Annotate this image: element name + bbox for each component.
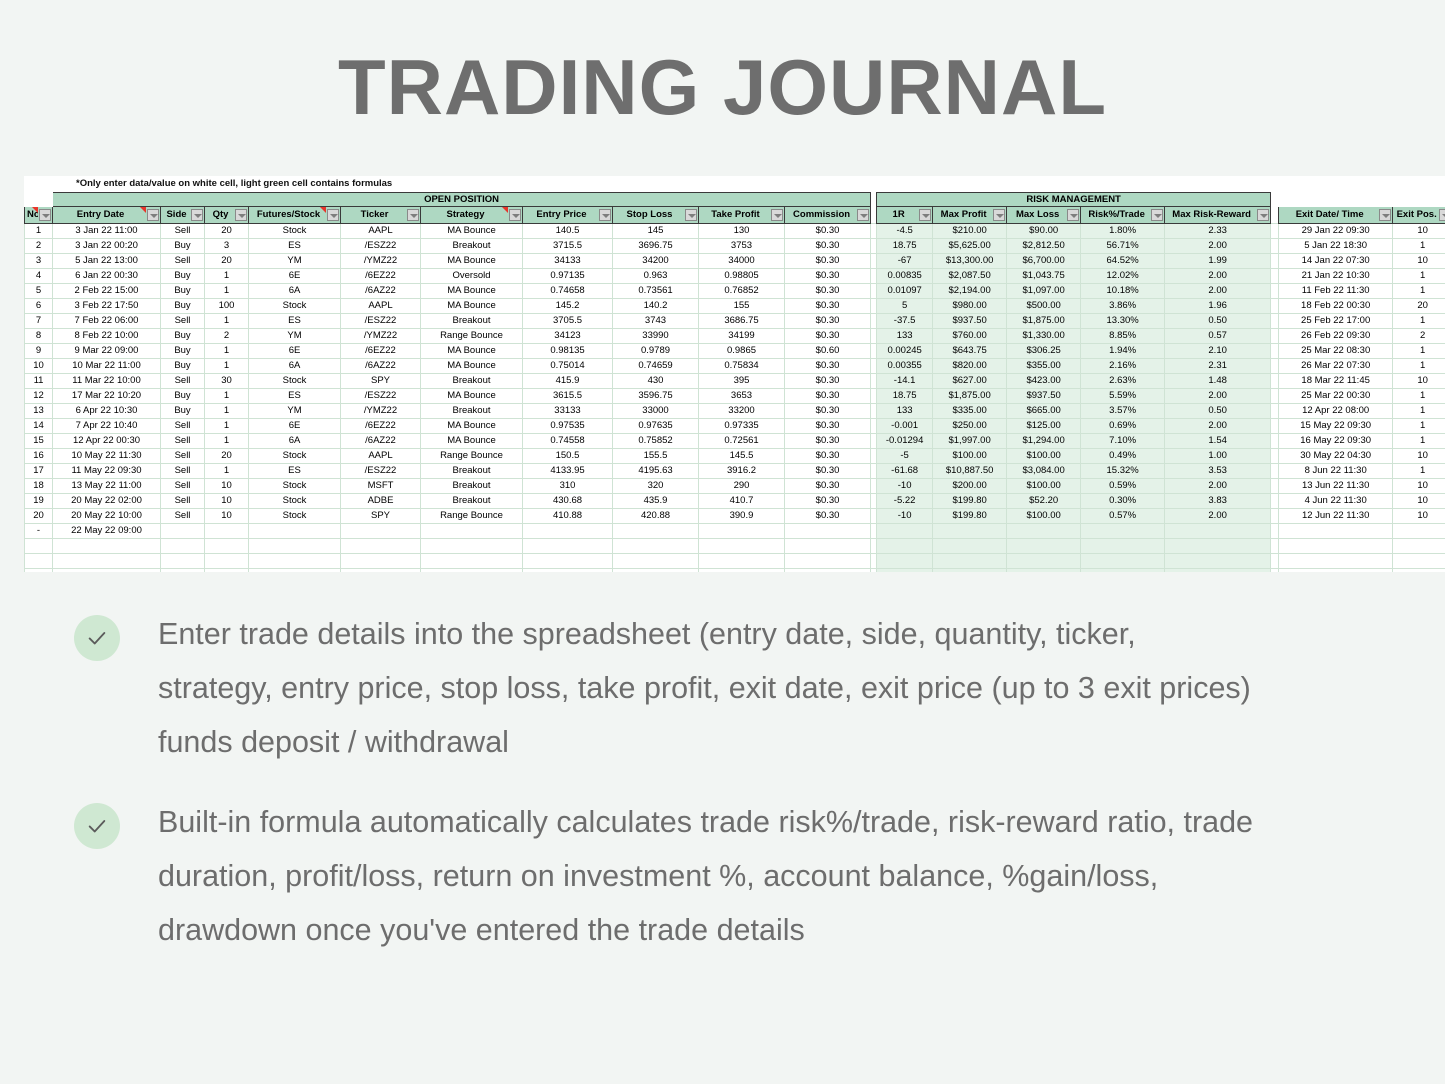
cell-max-rr[interactable]: 1.96	[1165, 299, 1271, 314]
cell-side[interactable]: Sell	[161, 419, 205, 434]
cell-commission[interactable]: $0.30	[785, 464, 871, 479]
cell-max-profit[interactable]: $820.00	[933, 359, 1007, 374]
cell-take-profit[interactable]: 3916.2	[699, 464, 785, 479]
cell-exit-pos[interactable]: 10	[1393, 374, 1445, 389]
cell-instrument[interactable]: Stock	[249, 299, 341, 314]
table-row[interactable]: 1217 Mar 22 10:20Buy1ES/ESZ22MA Bounce36…	[25, 389, 1445, 404]
cell-ticker[interactable]: /6EZ22	[341, 419, 421, 434]
cell-ticker[interactable]: /6AZ22	[341, 284, 421, 299]
cell-max-rr[interactable]: 2.00	[1165, 284, 1271, 299]
cell-r1[interactable]	[877, 539, 933, 554]
cell-no[interactable]: 3	[25, 254, 53, 269]
cell-no[interactable]: 16	[25, 449, 53, 464]
cell-max-rr[interactable]: 1.00	[1165, 449, 1271, 464]
cell-take-profit[interactable]: 34000	[699, 254, 785, 269]
cell-exit-date[interactable]: 12 Jun 22 11:30	[1279, 509, 1393, 524]
cell-max-profit[interactable]: $2,194.00	[933, 284, 1007, 299]
cell-side[interactable]: Sell	[161, 434, 205, 449]
cell-risk-pct[interactable]	[1081, 554, 1165, 569]
cell-qty[interactable]: 2	[205, 329, 249, 344]
column-header-qty[interactable]: Qty	[205, 207, 249, 224]
cell-max-rr[interactable]: 3.53	[1165, 464, 1271, 479]
filter-dropdown-icon[interactable]	[857, 209, 869, 221]
column-header-entry-price[interactable]: Entry Price	[523, 207, 613, 224]
cell-r1[interactable]: 18.75	[877, 239, 933, 254]
table-row[interactable]: 136 Apr 22 10:30Buy1YM/YMZ22Breakout3313…	[25, 404, 1445, 419]
cell-r1[interactable]: -37.5	[877, 314, 933, 329]
filter-dropdown-icon[interactable]	[993, 209, 1005, 221]
cell-entry-date[interactable]	[53, 539, 161, 554]
cell-risk-pct[interactable]: 13.30%	[1081, 314, 1165, 329]
cell-no[interactable]: 18	[25, 479, 53, 494]
cell-take-profit[interactable]: 395	[699, 374, 785, 389]
table-row[interactable]: 147 Apr 22 10:40Sell16E/6EZ22MA Bounce0.…	[25, 419, 1445, 434]
cell-r1[interactable]: 0.00355	[877, 359, 933, 374]
cell-side[interactable]: Buy	[161, 329, 205, 344]
cell-side[interactable]: Sell	[161, 314, 205, 329]
cell-side[interactable]: Buy	[161, 269, 205, 284]
cell-strategy[interactable]	[421, 569, 523, 572]
cell-ticker[interactable]: /6EZ22	[341, 344, 421, 359]
cell-no[interactable]: 13	[25, 404, 53, 419]
cell-entry-price[interactable]: 140.5	[523, 224, 613, 239]
cell-take-profit[interactable]	[699, 554, 785, 569]
cell-risk-pct[interactable]: 0.69%	[1081, 419, 1165, 434]
cell-r1[interactable]: 0.00245	[877, 344, 933, 359]
cell-exit-pos[interactable]: 1	[1393, 464, 1445, 479]
cell-max-loss[interactable]: $423.00	[1007, 374, 1081, 389]
cell-max-profit[interactable]: $2,087.50	[933, 269, 1007, 284]
cell-no[interactable]: 5	[25, 284, 53, 299]
cell-side[interactable]: Sell	[161, 479, 205, 494]
filter-dropdown-icon[interactable]	[599, 209, 611, 221]
cell-no[interactable]: 9	[25, 344, 53, 359]
cell-strategy[interactable]: Breakout	[421, 494, 523, 509]
cell-instrument[interactable]: YM	[249, 254, 341, 269]
cell-instrument[interactable]: ES	[249, 464, 341, 479]
cell-max-loss[interactable]: $306.25	[1007, 344, 1081, 359]
filter-dropdown-icon[interactable]	[1439, 209, 1445, 221]
cell-ticker[interactable]: ADBE	[341, 494, 421, 509]
cell-max-loss[interactable]: $100.00	[1007, 509, 1081, 524]
cell-ticker[interactable]: /YMZ22	[341, 254, 421, 269]
cell-instrument[interactable]: YM	[249, 329, 341, 344]
cell-max-rr[interactable]: 0.50	[1165, 314, 1271, 329]
cell-max-loss[interactable]: $1,294.00	[1007, 434, 1081, 449]
column-header-risk-trade[interactable]: Risk%/Trade	[1081, 207, 1165, 224]
filter-dropdown-icon[interactable]	[1151, 209, 1163, 221]
cell-stop-loss[interactable]	[613, 554, 699, 569]
cell-max-profit[interactable]	[933, 539, 1007, 554]
cell-risk-pct[interactable]: 3.57%	[1081, 404, 1165, 419]
cell-exit-pos[interactable]: 1	[1393, 344, 1445, 359]
cell-take-profit[interactable]: 130	[699, 224, 785, 239]
cell-stop-loss[interactable]: 320	[613, 479, 699, 494]
cell-exit-pos[interactable]: 20	[1393, 299, 1445, 314]
cell-instrument[interactable]: Stock	[249, 479, 341, 494]
cell-exit-date[interactable]: 4 Jun 22 11:30	[1279, 494, 1393, 509]
cell-entry-price[interactable]: 34133	[523, 254, 613, 269]
table-row[interactable]: 1111 Mar 22 10:00Sell30StockSPYBreakout4…	[25, 374, 1445, 389]
cell-strategy[interactable]: Range Bounce	[421, 449, 523, 464]
table-row[interactable]	[25, 539, 1445, 554]
cell-entry-date[interactable]: 6 Jan 22 00:30	[53, 269, 161, 284]
cell-strategy[interactable]: Breakout	[421, 479, 523, 494]
cell-max-loss[interactable]: $1,097.00	[1007, 284, 1081, 299]
cell-ticker[interactable]: MSFT	[341, 479, 421, 494]
cell-stop-loss[interactable]: 0.9789	[613, 344, 699, 359]
cell-instrument[interactable]: 6E	[249, 419, 341, 434]
cell-instrument[interactable]: 6E	[249, 344, 341, 359]
cell-max-rr[interactable]: 0.57	[1165, 329, 1271, 344]
cell-qty[interactable]: 1	[205, 419, 249, 434]
cell-exit-pos[interactable]: 1	[1393, 434, 1445, 449]
cell-stop-loss[interactable]	[613, 569, 699, 572]
cell-max-rr[interactable]: 0.50	[1165, 404, 1271, 419]
cell-entry-price[interactable]: 430.68	[523, 494, 613, 509]
cell-entry-date[interactable]: 2 Feb 22 15:00	[53, 284, 161, 299]
column-header-no[interactable]: No	[25, 207, 53, 224]
cell-strategy[interactable]: MA Bounce	[421, 344, 523, 359]
cell-max-profit[interactable]: $5,625.00	[933, 239, 1007, 254]
cell-exit-date[interactable]: 21 Jan 22 10:30	[1279, 269, 1393, 284]
cell-entry-price[interactable]: 3715.5	[523, 239, 613, 254]
cell-ticker[interactable]: AAPL	[341, 449, 421, 464]
cell-strategy[interactable]: Breakout	[421, 314, 523, 329]
cell-entry-date[interactable]: 10 Mar 22 11:00	[53, 359, 161, 374]
cell-max-loss[interactable]: $500.00	[1007, 299, 1081, 314]
cell-strategy[interactable]	[421, 554, 523, 569]
cell-no[interactable]: 12	[25, 389, 53, 404]
cell-no[interactable]: 14	[25, 419, 53, 434]
cell-instrument[interactable]: Stock	[249, 494, 341, 509]
cell-no[interactable]: 4	[25, 269, 53, 284]
cell-qty[interactable]: 10	[205, 509, 249, 524]
cell-entry-date[interactable]: 11 Mar 22 10:00	[53, 374, 161, 389]
cell-entry-date[interactable]: 6 Apr 22 10:30	[53, 404, 161, 419]
cell-stop-loss[interactable]: 435.9	[613, 494, 699, 509]
cell-commission[interactable]	[785, 554, 871, 569]
cell-commission[interactable]: $0.30	[785, 254, 871, 269]
cell-max-profit[interactable]: $200.00	[933, 479, 1007, 494]
cell-side[interactable]: Sell	[161, 224, 205, 239]
cell-exit-pos[interactable]	[1393, 539, 1445, 554]
cell-qty[interactable]: 1	[205, 389, 249, 404]
cell-commission[interactable]	[785, 524, 871, 539]
table-row[interactable]: 1010 Mar 22 11:00Buy16A/6AZ22MA Bounce0.…	[25, 359, 1445, 374]
cell-max-loss[interactable]	[1007, 569, 1081, 572]
cell-r1[interactable]: 18.75	[877, 389, 933, 404]
cell-instrument[interactable]: Stock	[249, 509, 341, 524]
cell-max-profit[interactable]: $1,875.00	[933, 389, 1007, 404]
cell-stop-loss[interactable]: 420.88	[613, 509, 699, 524]
cell-max-profit[interactable]	[933, 524, 1007, 539]
table-row[interactable]	[25, 554, 1445, 569]
cell-exit-date[interactable]: 29 Jan 22 09:30	[1279, 224, 1393, 239]
cell-instrument[interactable]	[249, 524, 341, 539]
filter-dropdown-icon[interactable]	[147, 209, 159, 221]
cell-ticker[interactable]	[341, 539, 421, 554]
cell-qty[interactable]	[205, 569, 249, 572]
cell-risk-pct[interactable]	[1081, 569, 1165, 572]
cell-r1[interactable]	[877, 554, 933, 569]
cell-strategy[interactable]: MA Bounce	[421, 419, 523, 434]
cell-r1[interactable]: -5	[877, 449, 933, 464]
cell-exit-pos[interactable]: 1	[1393, 359, 1445, 374]
cell-entry-date[interactable]: 8 Feb 22 10:00	[53, 329, 161, 344]
table-row[interactable]: 99 Mar 22 09:00Buy16E/6EZ22MA Bounce0.98…	[25, 344, 1445, 359]
cell-qty[interactable]: 1	[205, 434, 249, 449]
filter-dropdown-icon[interactable]	[509, 209, 521, 221]
cell-risk-pct[interactable]: 5.59%	[1081, 389, 1165, 404]
table-row[interactable]	[25, 569, 1445, 572]
cell-max-profit[interactable]: $335.00	[933, 404, 1007, 419]
cell-max-profit[interactable]: $13,300.00	[933, 254, 1007, 269]
cell-stop-loss[interactable]: 3696.75	[613, 239, 699, 254]
cell-max-loss[interactable]: $125.00	[1007, 419, 1081, 434]
cell-entry-price[interactable]: 33133	[523, 404, 613, 419]
cell-side[interactable]	[161, 569, 205, 572]
cell-instrument[interactable]	[249, 539, 341, 554]
cell-side[interactable]: Buy	[161, 389, 205, 404]
cell-entry-date[interactable]: 10 May 22 11:30	[53, 449, 161, 464]
cell-entry-date[interactable]: 13 May 22 11:00	[53, 479, 161, 494]
cell-entry-price[interactable]: 0.97135	[523, 269, 613, 284]
cell-r1[interactable]: -4.5	[877, 224, 933, 239]
cell-max-profit[interactable]: $10,887.50	[933, 464, 1007, 479]
cell-side[interactable]: Buy	[161, 284, 205, 299]
cell-take-profit[interactable]: 145.5	[699, 449, 785, 464]
cell-take-profit[interactable]: 0.98805	[699, 269, 785, 284]
cell-max-loss[interactable]: $1,330.00	[1007, 329, 1081, 344]
cell-max-rr[interactable]	[1165, 539, 1271, 554]
filter-dropdown-icon[interactable]	[919, 209, 931, 221]
cell-max-loss[interactable]: $1,875.00	[1007, 314, 1081, 329]
cell-entry-price[interactable]: 415.9	[523, 374, 613, 389]
cell-strategy[interactable]	[421, 539, 523, 554]
cell-stop-loss[interactable]: 33000	[613, 404, 699, 419]
cell-risk-pct[interactable]	[1081, 524, 1165, 539]
column-header-strategy[interactable]: Strategy	[421, 207, 523, 224]
cell-stop-loss[interactable]: 0.74659	[613, 359, 699, 374]
column-header-stop-loss[interactable]: Stop Loss	[613, 207, 699, 224]
cell-max-rr[interactable]	[1165, 524, 1271, 539]
cell-max-loss[interactable]: $2,812.50	[1007, 239, 1081, 254]
cell-max-rr[interactable]: 2.00	[1165, 419, 1271, 434]
cell-ticker[interactable]: SPY	[341, 374, 421, 389]
cell-no[interactable]	[25, 539, 53, 554]
cell-no[interactable]: 8	[25, 329, 53, 344]
cell-max-loss[interactable]	[1007, 554, 1081, 569]
cell-side[interactable]: Sell	[161, 254, 205, 269]
cell-risk-pct[interactable]: 1.80%	[1081, 224, 1165, 239]
table-row[interactable]: 23 Jan 22 00:20Buy3ES/ESZ22Breakout3715.…	[25, 239, 1445, 254]
cell-risk-pct[interactable]	[1081, 539, 1165, 554]
filter-dropdown-icon[interactable]	[235, 209, 247, 221]
cell-no[interactable]: 20	[25, 509, 53, 524]
cell-stop-loss[interactable]: 145	[613, 224, 699, 239]
column-header-max-loss[interactable]: Max Loss	[1007, 207, 1081, 224]
table-row[interactable]: 2020 May 22 10:00Sell10StockSPYRange Bou…	[25, 509, 1445, 524]
cell-entry-price[interactable]: 310	[523, 479, 613, 494]
cell-take-profit[interactable]: 3753	[699, 239, 785, 254]
table-row[interactable]: 46 Jan 22 00:30Buy16E/6EZ22Oversold0.971…	[25, 269, 1445, 284]
cell-max-loss[interactable]: $100.00	[1007, 449, 1081, 464]
cell-r1[interactable]: -10	[877, 479, 933, 494]
cell-exit-pos[interactable]: 10	[1393, 509, 1445, 524]
cell-stop-loss[interactable]: 3743	[613, 314, 699, 329]
cell-qty[interactable]: 100	[205, 299, 249, 314]
cell-take-profit[interactable]: 0.76852	[699, 284, 785, 299]
cell-take-profit[interactable]: 410.7	[699, 494, 785, 509]
cell-instrument[interactable]	[249, 569, 341, 572]
cell-entry-price[interactable]: 3615.5	[523, 389, 613, 404]
cell-exit-date[interactable]: 14 Jan 22 07:30	[1279, 254, 1393, 269]
cell-r1[interactable]: -10	[877, 509, 933, 524]
cell-commission[interactable]: $0.30	[785, 374, 871, 389]
cell-strategy[interactable]: Range Bounce	[421, 509, 523, 524]
cell-commission[interactable]: $0.30	[785, 284, 871, 299]
cell-commission[interactable]: $0.30	[785, 269, 871, 284]
cell-commission[interactable]: $0.30	[785, 449, 871, 464]
cell-instrument[interactable]: 6A	[249, 284, 341, 299]
cell-max-profit[interactable]: $250.00	[933, 419, 1007, 434]
column-header-exit-date-time[interactable]: Exit Date/ Time	[1279, 207, 1393, 224]
cell-ticker[interactable]: SPY	[341, 509, 421, 524]
cell-take-profit[interactable]: 390.9	[699, 509, 785, 524]
column-header-entry-date[interactable]: Entry Date	[53, 207, 161, 224]
cell-take-profit[interactable]: 0.72561	[699, 434, 785, 449]
cell-instrument[interactable]: ES	[249, 239, 341, 254]
cell-qty[interactable]: 30	[205, 374, 249, 389]
cell-side[interactable]: Sell	[161, 509, 205, 524]
cell-r1[interactable]: -61.68	[877, 464, 933, 479]
cell-exit-date[interactable]: 25 Feb 22 17:00	[1279, 314, 1393, 329]
cell-qty[interactable]: 1	[205, 284, 249, 299]
cell-max-profit[interactable]: $937.50	[933, 314, 1007, 329]
cell-no[interactable]: 17	[25, 464, 53, 479]
cell-r1[interactable]: -67	[877, 254, 933, 269]
cell-strategy[interactable]: Breakout	[421, 374, 523, 389]
cell-take-profit[interactable]: 0.9865	[699, 344, 785, 359]
cell-entry-price[interactable]: 0.98135	[523, 344, 613, 359]
cell-commission[interactable]: $0.30	[785, 434, 871, 449]
cell-entry-date[interactable]	[53, 554, 161, 569]
cell-entry-date[interactable]: 11 May 22 09:30	[53, 464, 161, 479]
cell-stop-loss[interactable]	[613, 539, 699, 554]
cell-strategy[interactable]: MA Bounce	[421, 389, 523, 404]
cell-max-loss[interactable]: $665.00	[1007, 404, 1081, 419]
cell-strategy[interactable]: Breakout	[421, 464, 523, 479]
cell-entry-date[interactable]: 20 May 22 02:00	[53, 494, 161, 509]
cell-qty[interactable]: 20	[205, 254, 249, 269]
cell-exit-date[interactable]: 15 May 22 09:30	[1279, 419, 1393, 434]
cell-side[interactable]: Buy	[161, 239, 205, 254]
cell-max-profit[interactable]: $199.80	[933, 494, 1007, 509]
cell-exit-pos[interactable]: 1	[1393, 284, 1445, 299]
cell-max-rr[interactable]: 2.00	[1165, 239, 1271, 254]
cell-max-loss[interactable]: $937.50	[1007, 389, 1081, 404]
cell-entry-date[interactable]: 7 Feb 22 06:00	[53, 314, 161, 329]
cell-stop-loss[interactable]: 0.75852	[613, 434, 699, 449]
cell-max-loss[interactable]: $90.00	[1007, 224, 1081, 239]
cell-commission[interactable]: $0.30	[785, 359, 871, 374]
cell-qty[interactable]: 1	[205, 464, 249, 479]
cell-side[interactable]: Buy	[161, 404, 205, 419]
cell-commission[interactable]: $0.30	[785, 389, 871, 404]
cell-exit-pos[interactable]	[1393, 569, 1445, 572]
cell-no[interactable]	[25, 569, 53, 572]
cell-qty[interactable]	[205, 524, 249, 539]
cell-entry-price[interactable]: 0.74658	[523, 284, 613, 299]
table-row[interactable]: 13 Jan 22 11:00Sell20StockAAPLMA Bounce1…	[25, 224, 1445, 239]
cell-risk-pct[interactable]: 2.16%	[1081, 359, 1165, 374]
cell-exit-pos[interactable]: 1	[1393, 419, 1445, 434]
cell-risk-pct[interactable]: 12.02%	[1081, 269, 1165, 284]
cell-exit-date[interactable]	[1279, 554, 1393, 569]
cell-exit-date[interactable]: 26 Mar 22 07:30	[1279, 359, 1393, 374]
cell-instrument[interactable]: 6A	[249, 359, 341, 374]
column-header-max-profit[interactable]: Max Profit	[933, 207, 1007, 224]
cell-instrument[interactable]: ES	[249, 389, 341, 404]
cell-exit-pos[interactable]: 1	[1393, 404, 1445, 419]
cell-r1[interactable]: 133	[877, 404, 933, 419]
cell-risk-pct[interactable]: 1.94%	[1081, 344, 1165, 359]
filter-dropdown-icon[interactable]	[1379, 209, 1391, 221]
table-row[interactable]: 1813 May 22 11:00Sell10StockMSFTBreakout…	[25, 479, 1445, 494]
cell-max-rr[interactable]: 1.54	[1165, 434, 1271, 449]
cell-qty[interactable]: 1	[205, 344, 249, 359]
cell-ticker[interactable]	[341, 554, 421, 569]
cell-qty[interactable]: 1	[205, 359, 249, 374]
cell-instrument[interactable]: Stock	[249, 449, 341, 464]
cell-r1[interactable]: -14.1	[877, 374, 933, 389]
cell-entry-date[interactable]: 3 Feb 22 17:50	[53, 299, 161, 314]
cell-exit-pos[interactable]: 10	[1393, 254, 1445, 269]
cell-exit-pos[interactable]: 1	[1393, 389, 1445, 404]
cell-entry-price[interactable]: 410.88	[523, 509, 613, 524]
cell-r1[interactable]: -0.001	[877, 419, 933, 434]
cell-max-profit[interactable]: $760.00	[933, 329, 1007, 344]
cell-side[interactable]: Buy	[161, 344, 205, 359]
cell-exit-date[interactable]: 25 Mar 22 00:30	[1279, 389, 1393, 404]
cell-entry-date[interactable]	[53, 569, 161, 572]
cell-take-profit[interactable]: 3653	[699, 389, 785, 404]
cell-take-profit[interactable]: 33200	[699, 404, 785, 419]
cell-max-profit[interactable]: $100.00	[933, 449, 1007, 464]
cell-ticker[interactable]: /ESZ22	[341, 464, 421, 479]
cell-qty[interactable]	[205, 554, 249, 569]
cell-entry-date[interactable]: 5 Jan 22 13:00	[53, 254, 161, 269]
cell-max-rr[interactable]	[1165, 569, 1271, 572]
cell-r1[interactable]: -0.01294	[877, 434, 933, 449]
cell-entry-price[interactable]: 0.75014	[523, 359, 613, 374]
cell-commission[interactable]: $0.30	[785, 314, 871, 329]
cell-max-rr[interactable]: 2.00	[1165, 389, 1271, 404]
cell-risk-pct[interactable]: 0.30%	[1081, 494, 1165, 509]
cell-entry-price[interactable]	[523, 569, 613, 572]
filter-dropdown-icon[interactable]	[39, 209, 51, 221]
cell-entry-price[interactable]: 34123	[523, 329, 613, 344]
cell-risk-pct[interactable]: 3.86%	[1081, 299, 1165, 314]
cell-max-loss[interactable]: $1,043.75	[1007, 269, 1081, 284]
cell-entry-price[interactable]	[523, 524, 613, 539]
cell-ticker[interactable]: /ESZ22	[341, 239, 421, 254]
cell-risk-pct[interactable]: 15.32%	[1081, 464, 1165, 479]
cell-take-profit[interactable]: 3686.75	[699, 314, 785, 329]
cell-stop-loss[interactable]: 0.73561	[613, 284, 699, 299]
cell-stop-loss[interactable]: 155.5	[613, 449, 699, 464]
